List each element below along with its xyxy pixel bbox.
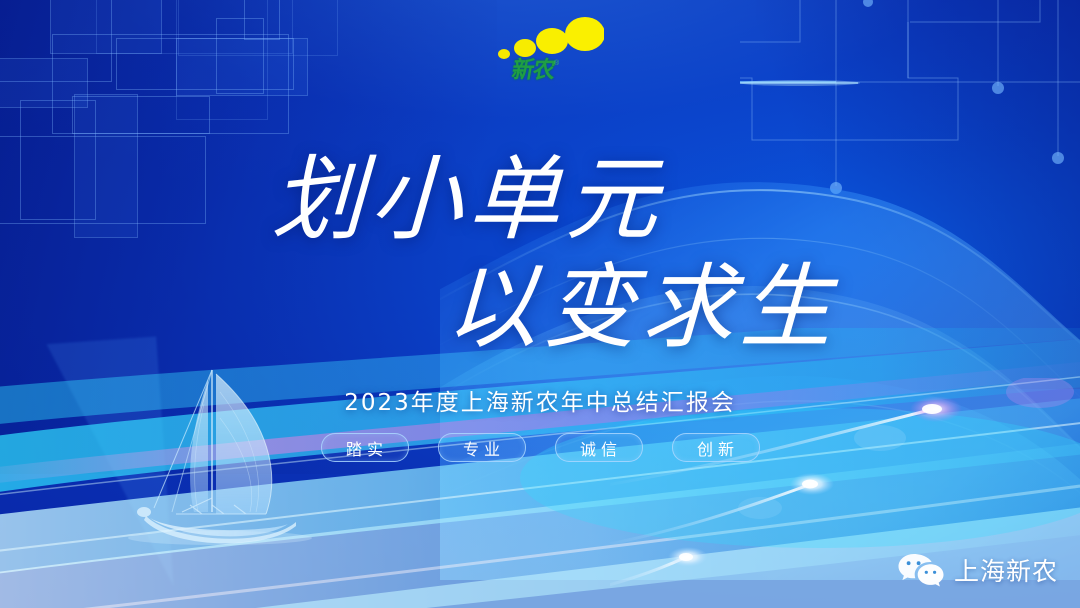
tag-item: 创新 <box>672 433 760 462</box>
value-tag-list: 踏实 专业 诚信 创新 <box>0 433 1080 462</box>
xinnong-logo: 新农 ® <box>494 14 604 96</box>
tag-item: 专业 <box>438 433 526 462</box>
subtitle: 2023年度上海新农年中总结汇报会 <box>0 383 1080 417</box>
logo-dots-icon <box>494 14 604 96</box>
tag-item: 诚信 <box>555 433 643 462</box>
tag-item: 踏实 <box>321 433 409 462</box>
poster-canvas: 新农 ® 划小单元 以变求生 2023年度上海新农年中总结汇报会 踏实 专业 诚… <box>0 0 1080 608</box>
wechat-icon <box>897 550 945 590</box>
wechat-account-name: 上海新农 <box>954 552 1058 588</box>
logo-wordmark: 新农 <box>510 59 556 82</box>
wechat-watermark: 上海新农 <box>897 550 1058 590</box>
logo-registered-mark: ® <box>554 60 559 67</box>
